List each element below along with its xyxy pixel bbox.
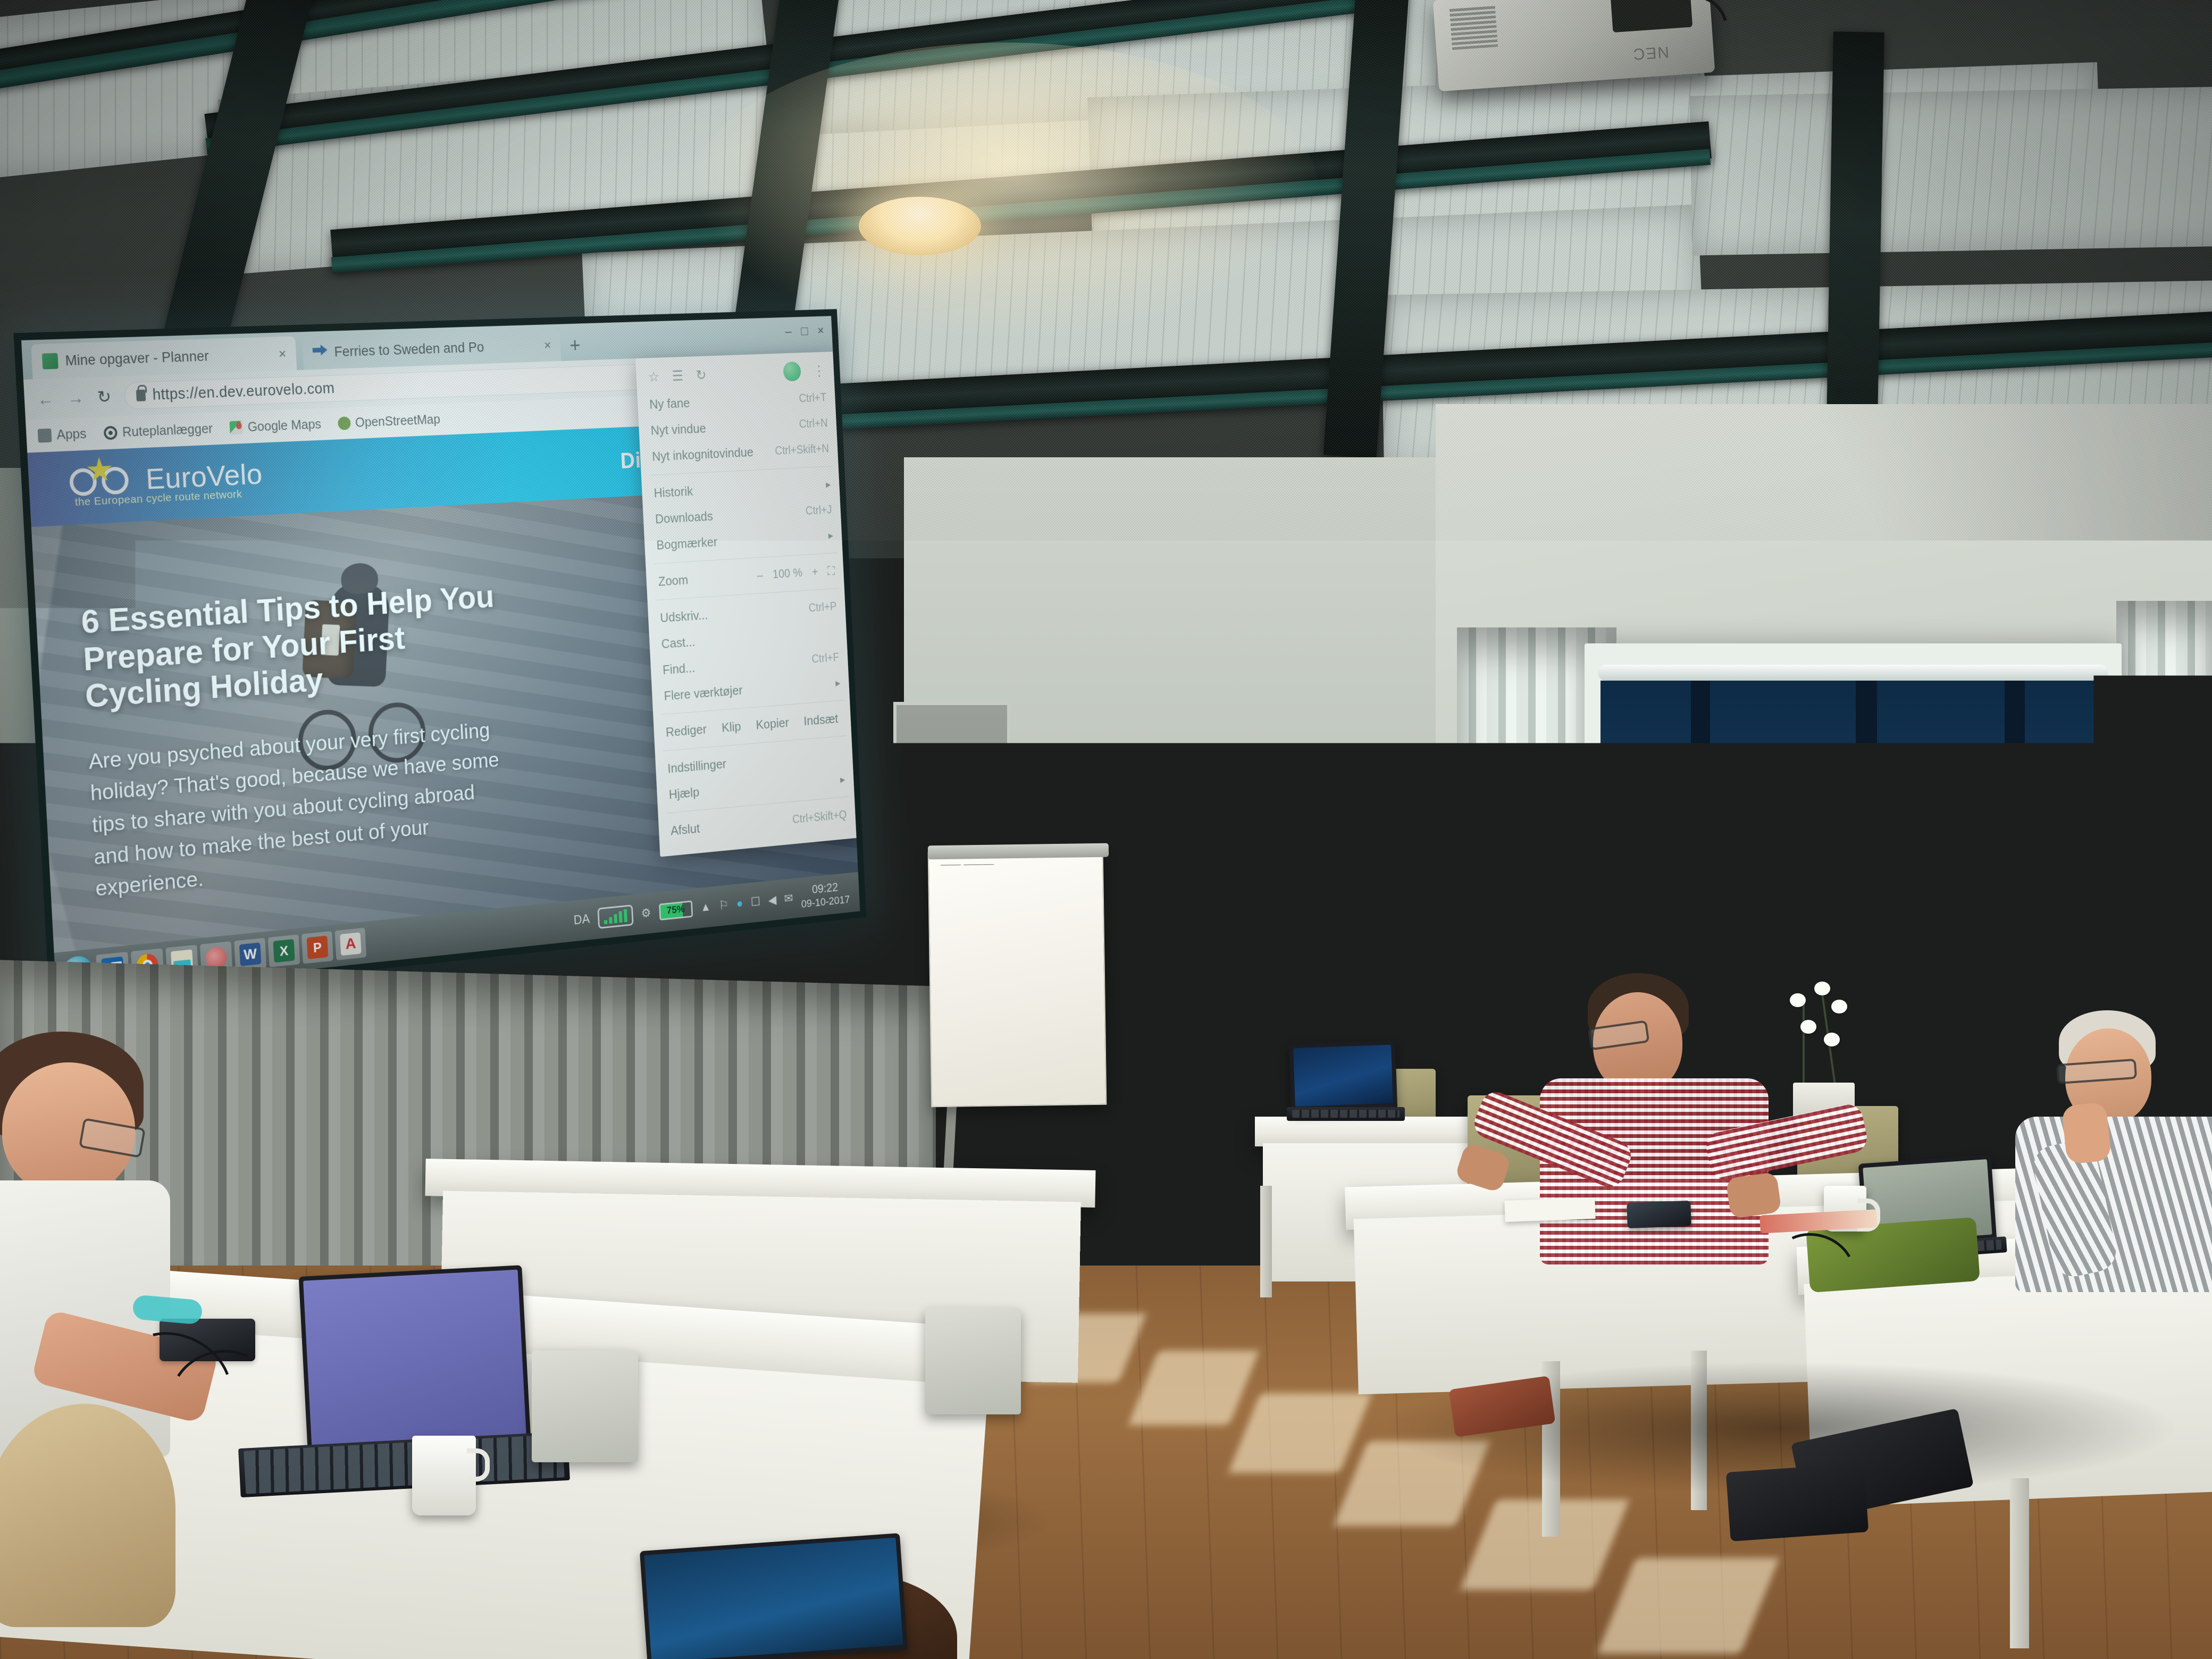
pdf-icon-letter: A bbox=[340, 932, 361, 956]
menu-label: Indstillinger bbox=[667, 756, 727, 776]
list-icon[interactable]: ☰ bbox=[672, 367, 684, 384]
edit-cut-button[interactable]: Klip bbox=[722, 719, 742, 735]
artwork-mat bbox=[1085, 779, 1287, 1002]
wifi-bars-icon[interactable] bbox=[598, 904, 634, 929]
menu-label: Hjælp bbox=[668, 784, 700, 802]
menu-label: Flere værktøjer bbox=[664, 683, 743, 704]
word-icon-letter: W bbox=[239, 942, 261, 966]
chrome-dropdown-menu[interactable]: ☆ ☰ ↻ ⋮ Ny fane Ctrl+T Nyt vindue Ctrl+N… bbox=[635, 351, 859, 857]
bookmark-ruteplanlaegger[interactable]: Ruteplanlægger bbox=[104, 421, 213, 441]
chevron-right-icon: ▸ bbox=[826, 478, 831, 491]
more-options-icon[interactable]: ⋮ bbox=[812, 362, 825, 379]
menu-label: Bogmærker bbox=[656, 534, 718, 553]
bicycle-wheels-icon bbox=[69, 460, 138, 496]
chair-center-right[interactable] bbox=[925, 1308, 1021, 1414]
apps-grid-icon bbox=[38, 429, 52, 443]
hero-heading: 6 Essential Tips to Help You Prepare for… bbox=[80, 579, 500, 715]
excel-icon[interactable]: X bbox=[268, 934, 300, 967]
hero-body: Are you psyched about your very first cy… bbox=[88, 714, 509, 905]
hand-right bbox=[1725, 1172, 1782, 1219]
laptop-bottom[interactable] bbox=[643, 1542, 941, 1659]
menu-label: Ny fane bbox=[649, 396, 690, 413]
menu-label: Nyt vindue bbox=[650, 421, 706, 438]
bookmark-label: Apps bbox=[56, 426, 87, 443]
zoom-value: 100 % bbox=[772, 566, 802, 581]
bookmark-label: Ruteplanlægger bbox=[122, 421, 213, 440]
dropbox-icon[interactable]: ● bbox=[736, 896, 743, 911]
window-controls[interactable]: – □ × bbox=[785, 323, 825, 339]
menu-label: Zoom bbox=[658, 572, 689, 589]
fullscreen-icon[interactable]: ⛶ bbox=[827, 564, 835, 578]
laptop-screen bbox=[303, 1270, 526, 1447]
hand-on-chin bbox=[2061, 1102, 2112, 1164]
clock[interactable]: 09:22 09-10-2017 bbox=[800, 879, 850, 910]
chevron-right-icon: ▸ bbox=[835, 676, 841, 689]
acrobat-icon[interactable]: A bbox=[335, 928, 367, 960]
menu-label: Afslut bbox=[671, 820, 700, 839]
menu-shortcut: Ctrl+F bbox=[811, 651, 840, 666]
powerpoint-icon[interactable]: P bbox=[301, 931, 333, 964]
tab-title: Ferries to Sweden and Po bbox=[334, 339, 484, 360]
hair bbox=[0, 1404, 175, 1627]
brand-name: EuroVelo bbox=[145, 460, 263, 493]
bookmark-label: Google Maps bbox=[247, 417, 322, 435]
flag-icon[interactable]: ⚐ bbox=[719, 898, 729, 913]
avatar[interactable] bbox=[783, 362, 801, 382]
bookmark-apps[interactable]: Apps bbox=[38, 426, 87, 444]
osm-icon bbox=[338, 416, 351, 430]
chevron-right-icon: ▸ bbox=[840, 773, 845, 786]
url-text: https://en.dev.eurovelo.com bbox=[152, 380, 335, 404]
excel-icon-letter: X bbox=[273, 939, 295, 963]
close-icon[interactable]: × bbox=[543, 337, 551, 353]
boot-second bbox=[1726, 1463, 1869, 1541]
network-activity-icon[interactable]: ⚙ bbox=[641, 906, 651, 921]
edit-paste-button[interactable]: Indsæt bbox=[803, 711, 839, 728]
menu-shortcut: Ctrl+N bbox=[799, 416, 828, 431]
tab-title: Mine opgaver - Planner bbox=[65, 348, 209, 368]
chevron-right-icon: ▸ bbox=[828, 529, 833, 542]
target-icon bbox=[104, 426, 118, 440]
minimize-icon[interactable]: – bbox=[785, 324, 792, 339]
laptop-back[interactable] bbox=[1287, 1042, 1409, 1127]
cast-icon[interactable]: ↻ bbox=[696, 366, 707, 383]
flipchart-scribble: —— ——— bbox=[941, 859, 994, 871]
maximize-icon[interactable]: □ bbox=[801, 323, 808, 339]
back-icon[interactable]: ← bbox=[37, 389, 54, 409]
artwork-image bbox=[1099, 793, 1272, 988]
forward-icon[interactable]: → bbox=[67, 388, 85, 408]
usb-icon[interactable]: ☐ bbox=[751, 895, 761, 910]
smartphone-right[interactable] bbox=[1627, 1201, 1691, 1228]
menu-label: Historik bbox=[653, 484, 693, 501]
ceiling-light bbox=[859, 197, 981, 255]
room-scene: NEC Mine opgaver - Planner × Ferries to … bbox=[0, 0, 2212, 1659]
menu-shortcut: Ctrl+J bbox=[805, 503, 832, 517]
projection-screen: Mine opgaver - Planner × Ferries to Swed… bbox=[21, 316, 860, 996]
menu-label: Cast... bbox=[661, 634, 696, 652]
menu-label: Find... bbox=[663, 660, 696, 678]
menu-item-edit: Rediger Klip Kopier Indsæt bbox=[653, 705, 854, 747]
zoom-in-button[interactable]: + bbox=[811, 565, 818, 579]
zoom-out-button[interactable]: – bbox=[757, 568, 763, 582]
hero-text-block: 6 Essential Tips to Help You Prepare for… bbox=[80, 579, 509, 905]
papers-right[interactable] bbox=[1504, 1197, 1595, 1222]
battery-percent: 75% bbox=[666, 904, 685, 917]
bookmark-star-icon[interactable]: ☆ bbox=[648, 368, 660, 384]
planner-icon bbox=[42, 353, 58, 370]
coffee-mug[interactable] bbox=[412, 1436, 476, 1515]
menu-label: Rediger bbox=[665, 722, 707, 740]
reload-icon[interactable]: ↻ bbox=[97, 387, 112, 407]
ferry-icon bbox=[312, 345, 328, 361]
lock-icon bbox=[136, 390, 146, 401]
google-maps-icon bbox=[229, 421, 243, 434]
edit-copy-button[interactable]: Kopier bbox=[756, 715, 789, 733]
chair-foreground[interactable] bbox=[532, 1351, 638, 1462]
laptop-foreground[interactable] bbox=[229, 1271, 580, 1526]
blind-roller[interactable] bbox=[1598, 665, 2108, 681]
flipchart[interactable]: —— ——— bbox=[928, 850, 1107, 1108]
volume-icon[interactable]: ◀ bbox=[768, 893, 777, 908]
battery-icon[interactable]: 75% bbox=[659, 900, 693, 920]
person-striped-shirt bbox=[1999, 1010, 2212, 1308]
show-hidden-icons-icon[interactable]: ▲ bbox=[700, 900, 711, 915]
bookmark-label: OpenStreetMap bbox=[355, 412, 440, 430]
menu-item-exit[interactable]: Afslut Ctrl+Skift+Q bbox=[658, 801, 858, 845]
menu-shortcut: Ctrl+T bbox=[799, 391, 827, 405]
word-icon[interactable]: W bbox=[234, 938, 266, 971]
menu-label: Nyt inkognitovindue bbox=[652, 445, 754, 464]
language-indicator[interactable]: DA bbox=[573, 912, 590, 928]
person-blond-back bbox=[0, 1404, 207, 1659]
menu-label: Udskriv... bbox=[660, 607, 708, 626]
menu-shortcut: Ctrl+P bbox=[808, 600, 837, 615]
flipchart-clamp bbox=[928, 843, 1109, 860]
ppt-icon-letter: P bbox=[307, 936, 329, 959]
menu-label: Downloads bbox=[655, 508, 713, 526]
menu-shortcut: Ctrl+Skift+N bbox=[775, 442, 829, 457]
menu-shortcut: Ctrl+Skift+Q bbox=[792, 808, 847, 826]
close-icon[interactable]: × bbox=[278, 346, 287, 362]
bookmark-google-maps[interactable]: Google Maps bbox=[229, 417, 321, 435]
bookmark-openstreetmap[interactable]: OpenStreetMap bbox=[337, 412, 440, 431]
person-checkered-shirt bbox=[1494, 973, 1824, 1340]
close-window-icon[interactable]: × bbox=[817, 323, 825, 338]
new-tab-button[interactable]: + bbox=[569, 334, 581, 357]
action-center-icon[interactable]: ✉ bbox=[784, 891, 793, 906]
